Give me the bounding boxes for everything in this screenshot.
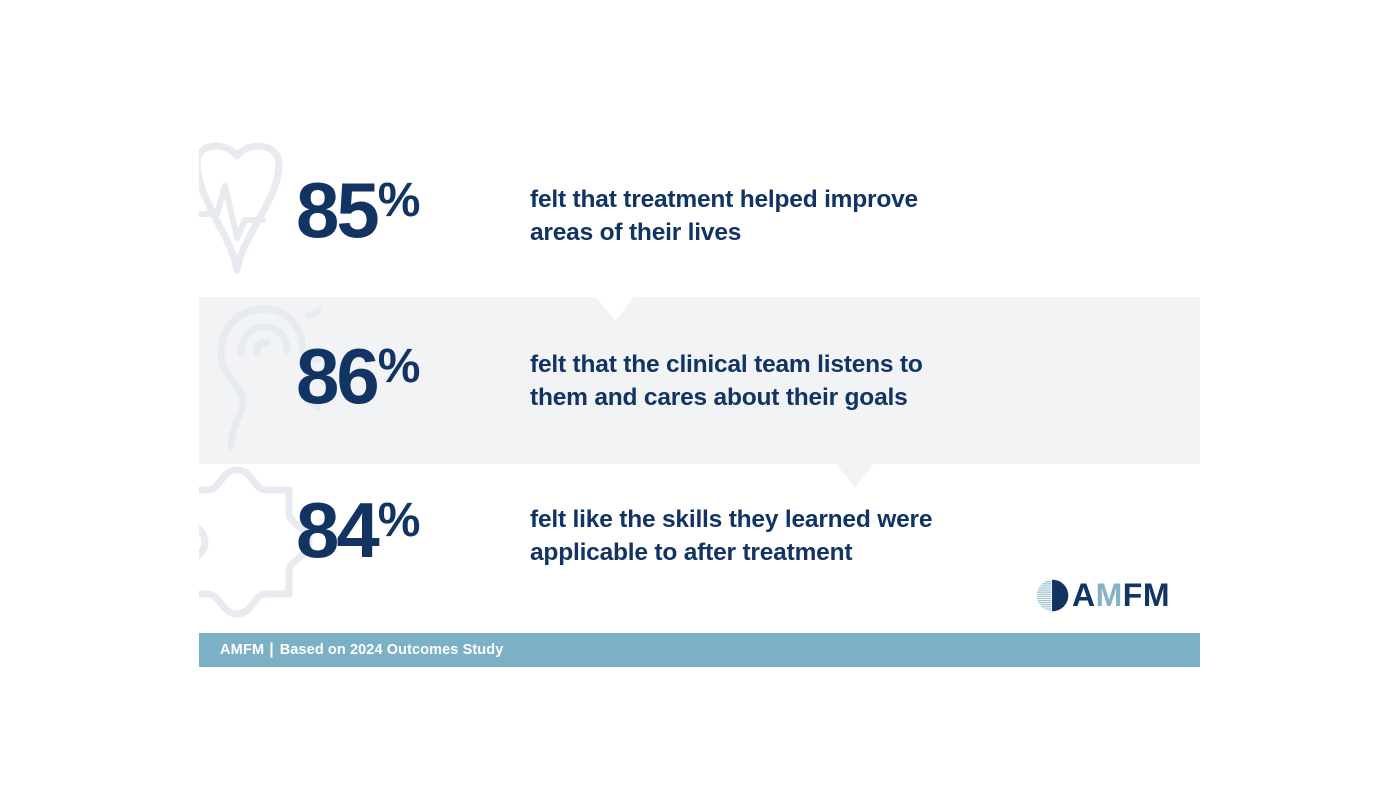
logo-letter-m1: M	[1096, 577, 1123, 613]
amfm-wordmark: AMFM	[1072, 579, 1170, 611]
stat-description: felt that the clinical team listens to t…	[530, 349, 1090, 415]
stat-row: 86 % felt that the clinical team listens…	[199, 297, 1200, 464]
stat-value: 86	[296, 342, 377, 411]
infographic-canvas: 85 % felt that treatment helped improve …	[0, 0, 1400, 800]
footer-banner: AMFM | Based on 2024 Outcomes Study	[199, 633, 1200, 667]
logo-letter-m2: M	[1143, 577, 1170, 613]
stat-description-line-1: felt that the clinical team listens to	[530, 349, 1090, 382]
footer-brand: AMFM	[220, 642, 264, 658]
percent-sign: %	[378, 497, 421, 545]
stat-percentage: 84 %	[296, 496, 420, 565]
stat-content: 86 % felt that the clinical team listens…	[199, 297, 1200, 464]
band-notch-top	[596, 297, 634, 321]
stat-percentage: 85 %	[296, 176, 420, 245]
stat-value: 84	[296, 496, 377, 565]
stat-description-line-2: areas of their lives	[530, 217, 1090, 250]
footer-source-text: Based on 2024 Outcomes Study	[280, 642, 504, 658]
stat-description: felt like the skills they learned were a…	[530, 504, 1090, 570]
stat-description-line-2: applicable to after treatment	[530, 537, 1090, 570]
stat-description: felt that treatment helped improve areas…	[530, 184, 1090, 250]
stat-value: 85	[296, 176, 377, 245]
percent-sign: %	[378, 177, 421, 225]
band-notch-bottom	[836, 464, 874, 488]
stat-description-line-1: felt that treatment helped improve	[530, 184, 1090, 217]
footer-separator: |	[269, 642, 273, 658]
amfm-logo: AMFM	[1036, 578, 1170, 612]
amfm-circle-mark	[1036, 579, 1070, 612]
stat-content: 85 % felt that treatment helped improve …	[199, 142, 1200, 297]
stat-percentage: 86 %	[296, 342, 420, 411]
logo-letter-f: F	[1123, 577, 1143, 613]
stat-row: 85 % felt that treatment helped improve …	[199, 142, 1200, 297]
stat-description-line-1: felt like the skills they learned were	[530, 504, 1090, 537]
logo-letter-a: A	[1072, 577, 1096, 613]
percent-sign: %	[378, 343, 421, 391]
stat-description-line-2: them and cares about their goals	[530, 382, 1090, 415]
